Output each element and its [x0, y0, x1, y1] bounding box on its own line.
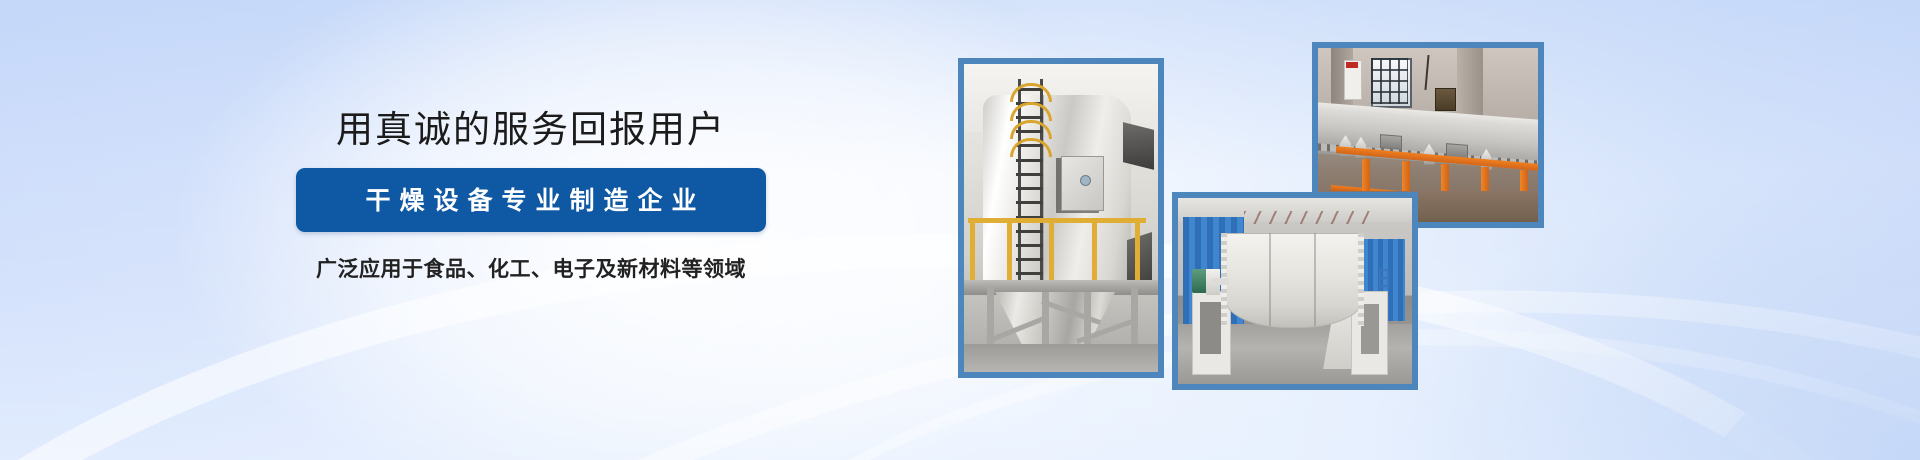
- photo-ribbon-mixer: [1172, 192, 1418, 390]
- promo-banner: 用真诚的服务回报用户 干燥设备专业制造企业 广泛应用于食品、化工、电子及新材料等…: [0, 0, 1920, 460]
- banner-text-block: 用真诚的服务回报用户 干燥设备专业制造企业 广泛应用于食品、化工、电子及新材料等…: [296, 108, 766, 283]
- banner-headline: 用真诚的服务回报用户: [296, 108, 766, 152]
- photo-spray-dryer: [958, 58, 1164, 378]
- photo-spray-dryer-image: [964, 64, 1158, 372]
- banner-subline: 广泛应用于食品、化工、电子及新材料等领域: [296, 253, 766, 283]
- photo-ribbon-mixer-image: [1178, 198, 1412, 384]
- banner-tagline-pill: 干燥设备专业制造企业: [296, 168, 766, 232]
